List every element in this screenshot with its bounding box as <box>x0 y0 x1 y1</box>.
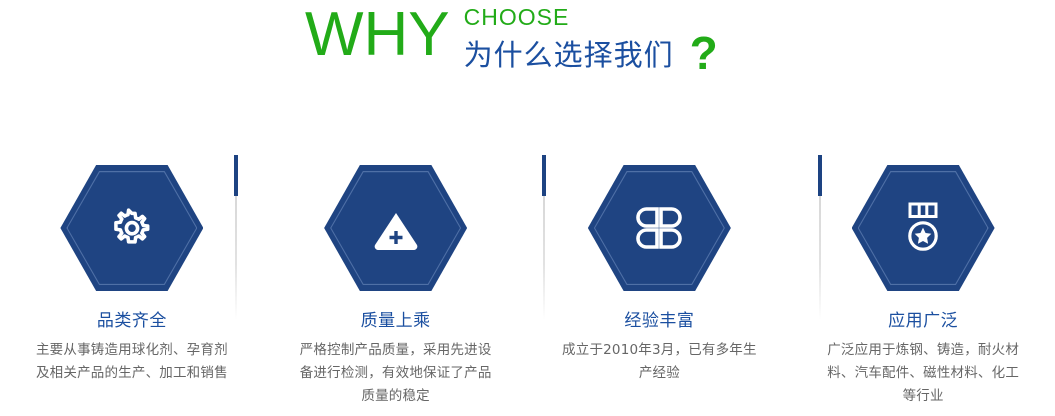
heading-text-stack: CHOOSE 为什么选择我们 ? <box>464 0 718 72</box>
heading-choose-word: CHOOSE <box>464 4 718 30</box>
heading-chinese-row: 为什么选择我们 ? <box>464 32 718 72</box>
card-title: 品类齐全 <box>97 310 167 332</box>
four-petal-clover-icon <box>588 165 731 291</box>
medal-award-icon <box>852 165 995 291</box>
heading-why-word: WHY <box>305 0 450 70</box>
card-title: 应用广泛 <box>888 310 958 332</box>
card-description: 成立于2010年3月，已有多年生产经验 <box>557 339 762 385</box>
hexagon-badge-1 <box>60 165 203 291</box>
feature-card-3[interactable]: 经验丰富 成立于2010年3月，已有多年生产经验 <box>528 150 792 416</box>
card-description: 主要从事铸造用球化剂、孕育剂及相关产品的生产、加工和销售 <box>29 339 234 385</box>
feature-card-4[interactable]: 应用广泛 广泛应用于炼钢、铸造，耐火材料、汽车配件、磁性材料、化工等行业 <box>791 150 1055 416</box>
feature-card-2[interactable]: 质量上乘 严格控制产品质量，采用先进设备进行检测，有效地保证了产品质量的稳定 <box>264 150 528 416</box>
card-description: 广泛应用于炼钢、铸造，耐火材料、汽车配件、磁性材料、化工等行业 <box>821 339 1026 408</box>
feature-card-1[interactable]: 品类齐全 主要从事铸造用球化剂、孕育剂及相关产品的生产、加工和销售 <box>0 150 264 416</box>
triangle-plus-icon <box>324 165 467 291</box>
hexagon-badge-2 <box>324 165 467 291</box>
feature-cards-row: 品类齐全 主要从事铸造用球化剂、孕育剂及相关产品的生产、加工和销售 质量上乘 严… <box>0 150 1055 416</box>
card-title: 经验丰富 <box>624 310 694 332</box>
heading-inner: WHY CHOOSE 为什么选择我们 ? <box>305 0 718 72</box>
section-heading: WHY CHOOSE 为什么选择我们 ? <box>0 0 1055 92</box>
heading-chinese-title: 为什么选择我们 <box>464 38 674 72</box>
hexagon-badge-3 <box>588 165 731 291</box>
question-mark-icon: ? <box>690 36 718 70</box>
hexagon-badge-4 <box>852 165 995 291</box>
card-description: 严格控制产品质量，采用先进设备进行检测，有效地保证了产品质量的稳定 <box>293 339 498 408</box>
card-title: 质量上乘 <box>361 310 431 332</box>
gear-icon <box>60 165 203 291</box>
